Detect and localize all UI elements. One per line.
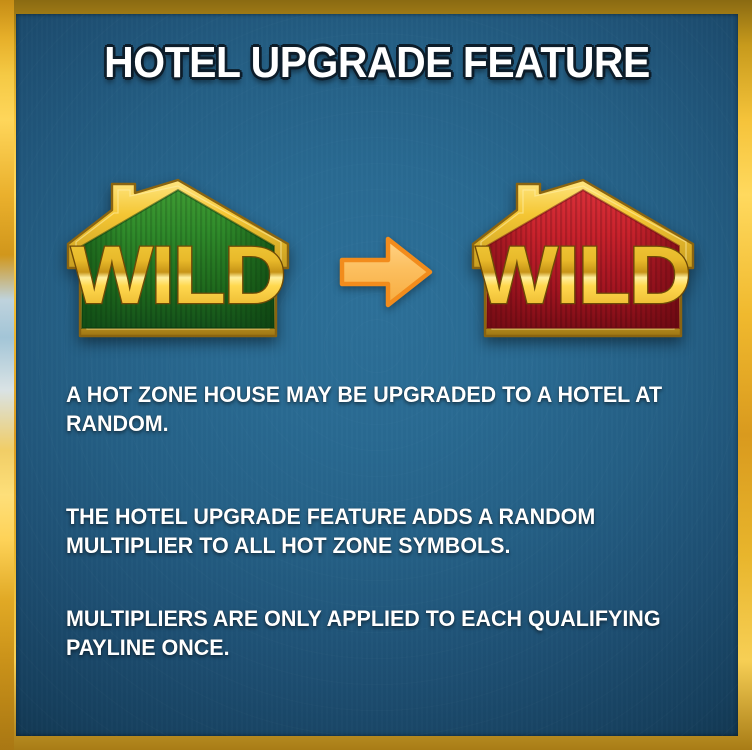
gold-frame-border: HOTEL UPGRADE FEATURE <box>0 0 752 750</box>
red-house-wild-symbol: WILD <box>465 172 701 344</box>
symbol-comparison-row: WILD <box>16 172 738 362</box>
green-house-wild-symbol: WILD <box>60 172 296 344</box>
description-paragraph-2: THE HOTEL UPGRADE FEATURE ADDS A RANDOM … <box>66 502 682 560</box>
page-title: HOTEL UPGRADE FEATURE <box>41 38 712 88</box>
description-paragraph-1: A HOT ZONE HOUSE MAY BE UPGRADED TO A HO… <box>66 380 682 438</box>
wild-label-red: WILD <box>476 229 690 320</box>
info-panel: HOTEL UPGRADE FEATURE <box>16 14 738 736</box>
description-paragraph-3: MULTIPLIERS ARE ONLY APPLIED TO EACH QUA… <box>66 604 682 662</box>
wild-label-green: WILD <box>71 229 285 320</box>
right-arrow-icon <box>338 234 434 310</box>
panel-content: HOTEL UPGRADE FEATURE <box>16 14 738 736</box>
